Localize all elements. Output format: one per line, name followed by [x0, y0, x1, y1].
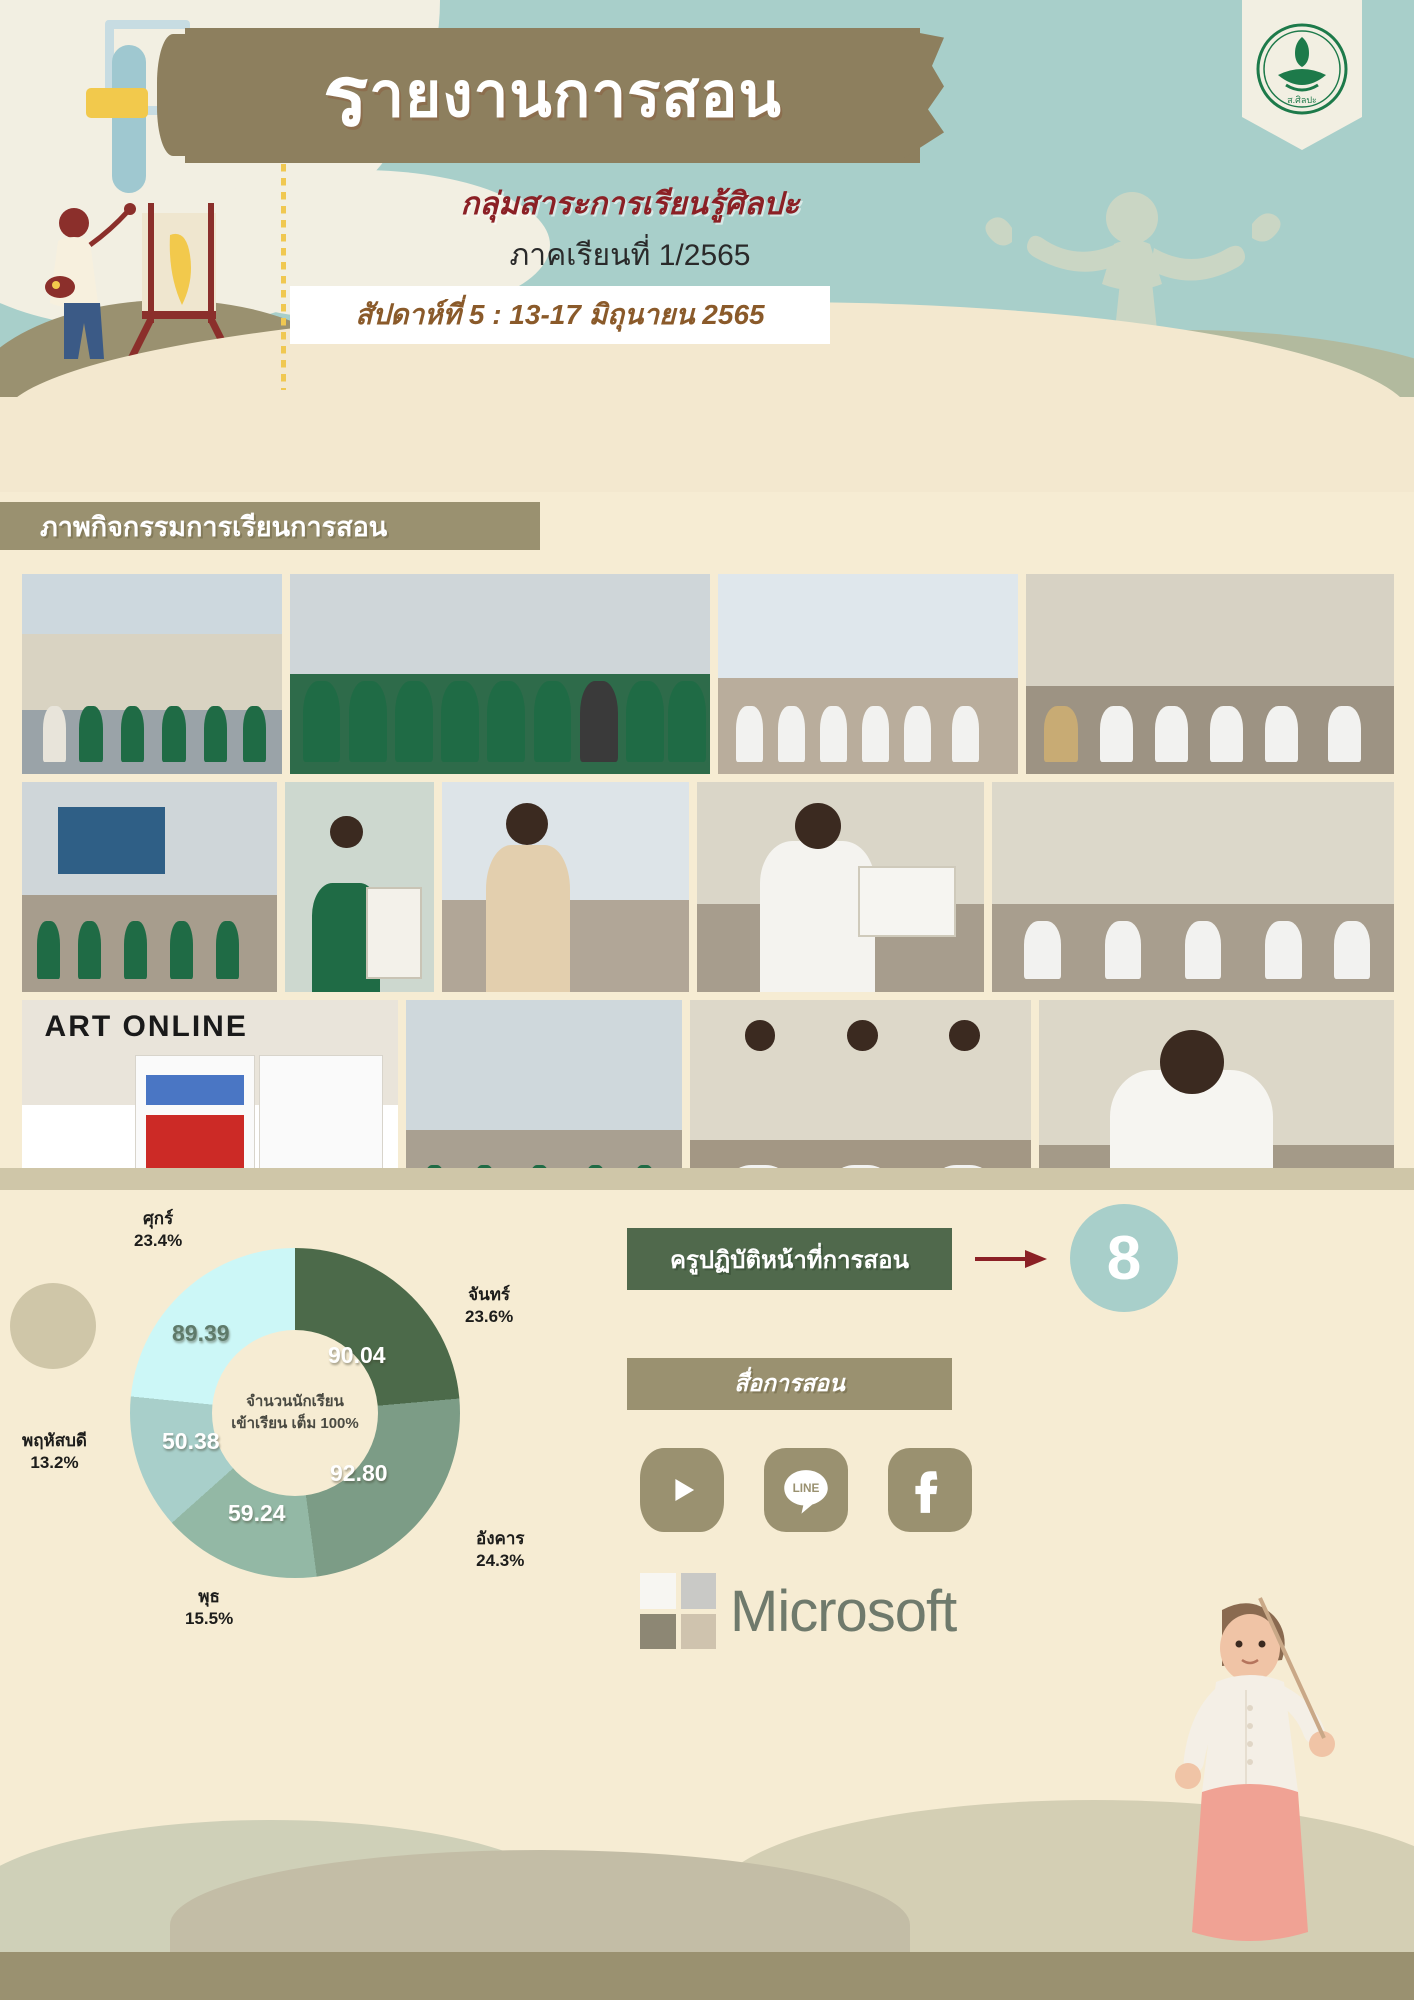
- category-pct-friday: 23.4%: [134, 1230, 182, 1252]
- svg-text:LINE: LINE: [793, 1482, 820, 1495]
- category-name-friday: ศุกร์: [134, 1208, 182, 1230]
- right-arrow-icon: [975, 1250, 1047, 1268]
- photo-classroom-lecture[interactable]: [718, 574, 1018, 774]
- photo-grid: ART ONLINE: [22, 574, 1394, 1258]
- category-pct-wednesday: 15.5%: [185, 1608, 233, 1630]
- term-line: ภาคเรียนที่ 1/2565: [280, 232, 980, 279]
- microsoft-label: Microsoft: [730, 1578, 956, 1645]
- category-pct-monday: 23.6%: [465, 1306, 513, 1328]
- teacher-count-badge: 8: [1070, 1204, 1178, 1312]
- photo-row: [22, 574, 1394, 774]
- photo-row: [22, 782, 1394, 992]
- page-title-capital: ร: [323, 54, 369, 138]
- school-crest-icon: ส.ศิลปะ: [1256, 23, 1348, 115]
- photo-projector-lesson[interactable]: [22, 782, 277, 992]
- category-pct-thursday: 13.2%: [22, 1452, 87, 1474]
- paint-roller-body-icon: [112, 45, 146, 193]
- donut-center-line-1: จำนวนนักเรียน: [246, 1391, 344, 1414]
- photo-students-artwork[interactable]: [992, 782, 1394, 992]
- category-label-wednesday: พุธ 15.5%: [185, 1586, 233, 1630]
- slice-value-friday: 89.39: [172, 1320, 230, 1347]
- svg-text:ส.ศิลปะ: ส.ศิลปะ: [1287, 95, 1317, 105]
- page-title: รายงานการสอน: [185, 28, 920, 163]
- attendance-donut-chart: จำนวนนักเรียน เข้าเรียน เต็ม 100% 90.04 …: [130, 1248, 460, 1578]
- teacher-duty-label: ครูปฏิบัติหน้าที่การสอน: [670, 1240, 909, 1279]
- category-label-friday: ศุกร์ 23.4%: [134, 1208, 182, 1252]
- line-icon[interactable]: LINE: [764, 1448, 848, 1532]
- category-pct-tuesday: 24.3%: [476, 1550, 525, 1572]
- gallery-section-label-text: ภาพกิจกรรมการเรียนการสอน: [40, 505, 387, 548]
- hero-section: รายงานการสอน กลุ่มสาระการเรียนรู้ศิลปะ ภ…: [0, 0, 1414, 492]
- microsoft-row: Microsoft: [640, 1573, 956, 1649]
- photo-music-class[interactable]: [22, 574, 282, 774]
- slice-value-wednesday: 59.24: [228, 1500, 286, 1527]
- slice-value-thursday: 50.38: [162, 1428, 220, 1455]
- media-band: สื่อการสอน: [627, 1358, 952, 1410]
- donut-center-line-2: เข้าเรียน เต็ม 100%: [231, 1413, 359, 1436]
- category-label-monday: จันทร์ 23.6%: [465, 1284, 513, 1328]
- decorative-circle: [10, 1283, 96, 1369]
- youtube-icon[interactable]: [640, 1448, 724, 1532]
- photo-student-showing-work[interactable]: [697, 782, 984, 992]
- category-name-monday: จันทร์: [465, 1284, 513, 1306]
- microsoft-logo-icon: [640, 1573, 716, 1649]
- art-online-caption: ART ONLINE: [45, 1010, 248, 1044]
- poster-root: รายงานการสอน กลุ่มสาระการเรียนรู้ศิลปะ ภ…: [0, 0, 1414, 2000]
- category-label-tuesday: อังคาร 24.3%: [476, 1528, 525, 1572]
- slice-value-monday: 90.04: [328, 1342, 386, 1369]
- school-crest-badge: ส.ศิลปะ: [1242, 0, 1362, 150]
- gallery-section: ภาพกิจกรรมการเรียนการสอน: [0, 492, 1414, 1168]
- paint-roller-pad-icon: [86, 88, 148, 118]
- teacher-duty-band: ครูปฏิบัติหน้าที่การสอน: [627, 1228, 952, 1290]
- hero-bottom-band: [0, 397, 1414, 492]
- page-title-rest: ายงานการสอน: [369, 65, 782, 127]
- teacher-illustration-icon: [1104, 1580, 1354, 2000]
- slice-value-tuesday: 92.80: [330, 1460, 388, 1487]
- media-label: สื่อการสอน: [734, 1366, 845, 1402]
- week-banner: สัปดาห์ที่ 5 : 13-17 มิถุนายน 2565: [290, 286, 830, 344]
- week-text: สัปดาห์ที่ 5 : 13-17 มิถุนายน 2565: [355, 293, 764, 337]
- data-section-top-band: [0, 1168, 1414, 1190]
- category-name-wednesday: พุธ: [185, 1586, 233, 1608]
- media-icon-row: LINE: [640, 1448, 972, 1532]
- photo-students-group[interactable]: [290, 574, 710, 774]
- title-brush-band: รายงานการสอน: [185, 28, 920, 163]
- gallery-section-label: ภาพกิจกรรมการเรียนการสอน: [0, 502, 540, 550]
- subject-line: กลุ่มสาระการเรียนรู้ศิลปะ: [280, 178, 980, 228]
- teacher-count-value: 8: [1107, 1223, 1141, 1294]
- category-name-thursday: พฤหัสบดี: [22, 1430, 87, 1452]
- photo-student-drawing[interactable]: [285, 782, 433, 992]
- data-section: จำนวนนักเรียน เข้าเรียน เต็ม 100% 90.04 …: [0, 1168, 1414, 2000]
- category-name-tuesday: อังคาร: [476, 1528, 525, 1550]
- category-label-thursday: พฤหัสบดี 13.2%: [22, 1430, 87, 1474]
- facebook-icon[interactable]: [888, 1448, 972, 1532]
- photo-teacher-reviewing[interactable]: [442, 782, 689, 992]
- photo-teacher-with-students[interactable]: [1026, 574, 1394, 774]
